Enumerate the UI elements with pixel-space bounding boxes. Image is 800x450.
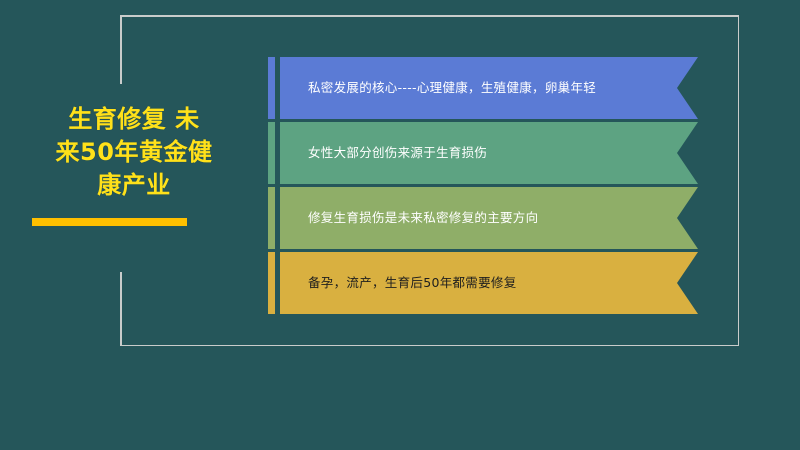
banner-label-3: 修复生育损伤是未来私密修复的主要方向 (308, 210, 538, 226)
banner-item-1[interactable]: 私密发展的核心----心理健康，生殖健康，卵巢年轻 (268, 57, 698, 119)
frame-border-bottom (120, 345, 739, 347)
banner-item-4[interactable]: 备孕，流产，生育后50年都需要修复 (268, 252, 698, 314)
frame-border-left-upper (120, 15, 122, 84)
banner-list: 私密发展的核心----心理健康，生殖健康，卵巢年轻 女性大部分创伤来源于生育损伤… (268, 57, 698, 317)
frame-border-top (120, 15, 739, 17)
banner-accent-bar-2 (268, 122, 275, 184)
banner-accent-bar-1 (268, 57, 275, 119)
banner-item-3[interactable]: 修复生育损伤是未来私密修复的主要方向 (268, 187, 698, 249)
title-block: 生育修复 未 来50年黄金健 康产业 (24, 103, 244, 202)
banner-label-1: 私密发展的核心----心理健康，生殖健康，卵巢年轻 (308, 80, 596, 96)
slide-title: 生育修复 未 来50年黄金健 康产业 (24, 103, 244, 202)
banner-label-2: 女性大部分创伤来源于生育损伤 (308, 145, 487, 161)
banner-body-3[interactable]: 修复生育损伤是未来私密修复的主要方向 (280, 187, 698, 249)
title-underline-rule (32, 218, 187, 226)
frame-border-left-lower (120, 272, 122, 346)
banner-accent-bar-3 (268, 187, 275, 249)
banner-body-1[interactable]: 私密发展的核心----心理健康，生殖健康，卵巢年轻 (280, 57, 698, 119)
banner-item-2[interactable]: 女性大部分创伤来源于生育损伤 (268, 122, 698, 184)
banner-body-4[interactable]: 备孕，流产，生育后50年都需要修复 (280, 252, 698, 314)
slide-canvas: 生育修复 未 来50年黄金健 康产业 私密发展的核心----心理健康，生殖健康，… (0, 0, 800, 450)
banner-label-4: 备孕，流产，生育后50年都需要修复 (308, 275, 517, 291)
banner-body-2[interactable]: 女性大部分创伤来源于生育损伤 (280, 122, 698, 184)
frame-border-right (738, 15, 740, 346)
banner-accent-bar-4 (268, 252, 275, 314)
